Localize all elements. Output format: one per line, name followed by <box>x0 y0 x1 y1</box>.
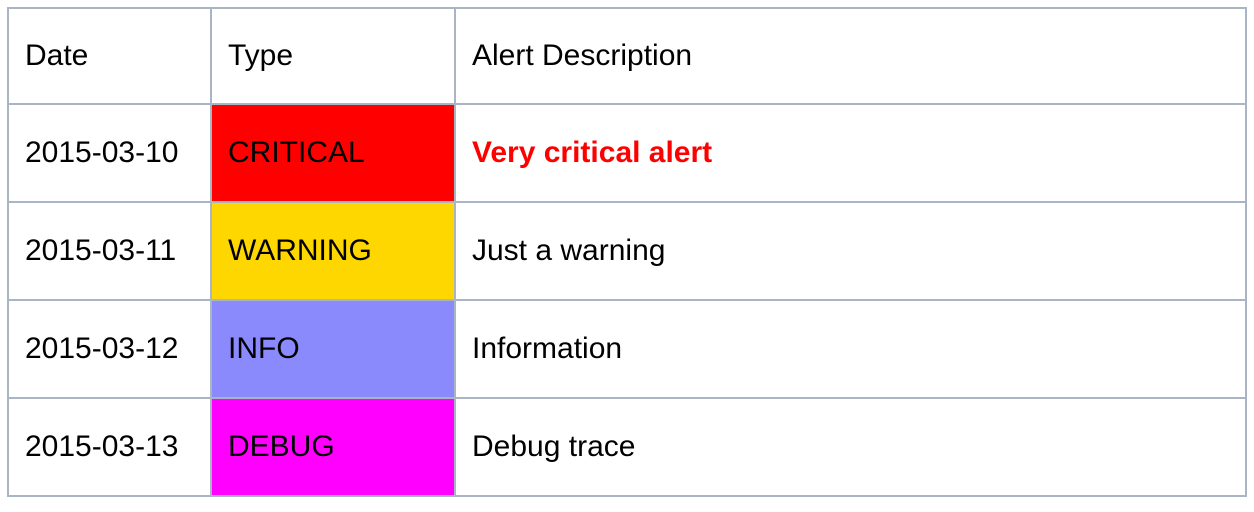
cell-alert-description: Very critical alert <box>455 104 1246 202</box>
table-row[interactable]: 2015-03-13DEBUGDebug trace <box>8 398 1246 496</box>
cell-alert-description: Debug trace <box>455 398 1246 496</box>
table-row[interactable]: 2015-03-12INFOInformation <box>8 300 1246 398</box>
cell-date: 2015-03-13 <box>8 398 211 496</box>
cell-alert-description: Information <box>455 300 1246 398</box>
table-header-row: Date Type Alert Description <box>8 8 1246 104</box>
alert-log-table: Date Type Alert Description 2015-03-10CR… <box>7 7 1247 497</box>
table-row[interactable]: 2015-03-10CRITICALVery critical alert <box>8 104 1246 202</box>
cell-date: 2015-03-12 <box>8 300 211 398</box>
column-header-type[interactable]: Type <box>211 8 455 104</box>
table-body: 2015-03-10CRITICALVery critical alert201… <box>8 104 1246 496</box>
table-header: Date Type Alert Description <box>8 8 1246 104</box>
alert-log-table-container: Date Type Alert Description 2015-03-10CR… <box>7 7 1245 497</box>
cell-type-debug: DEBUG <box>211 398 455 496</box>
cell-type-info: INFO <box>211 300 455 398</box>
cell-alert-description: Just a warning <box>455 202 1246 300</box>
column-header-alert-description[interactable]: Alert Description <box>455 8 1246 104</box>
column-header-date[interactable]: Date <box>8 8 211 104</box>
cell-date: 2015-03-11 <box>8 202 211 300</box>
cell-type-critical: CRITICAL <box>211 104 455 202</box>
cell-type-warning: WARNING <box>211 202 455 300</box>
cell-date: 2015-03-10 <box>8 104 211 202</box>
table-row[interactable]: 2015-03-11WARNINGJust a warning <box>8 202 1246 300</box>
